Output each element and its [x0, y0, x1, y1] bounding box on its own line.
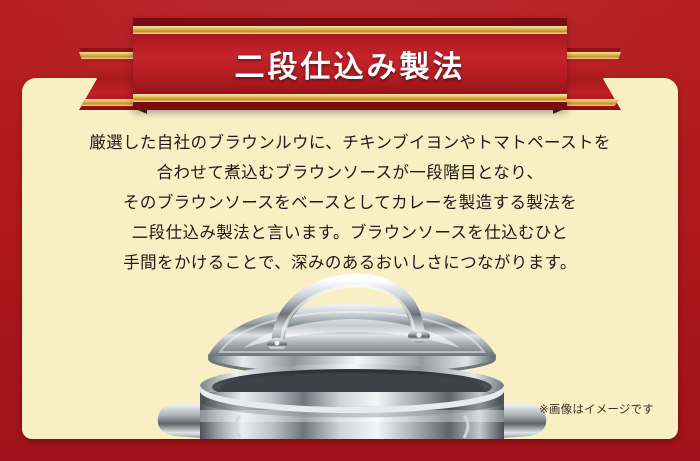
description-line-4: 二段仕込み製法と言います。ブラウンソースを仕込むひと — [22, 218, 678, 248]
description-line-2: 合わせて煮込むブラウンソースが一段階目となり、 — [22, 158, 678, 188]
description-line-3: そのブラウンソースをベースとしてカレーを製造する製法を — [22, 188, 678, 218]
image-disclaimer-caption: ※画像はイメージです — [539, 401, 654, 417]
description-block: 厳選した自社のブラウンルウに、チキンブイヨンやトマトペーストを 合わせて煮込むブ… — [22, 128, 678, 278]
description-line-1: 厳選した自社のブラウンルウに、チキンブイヨンやトマトペーストを — [22, 128, 678, 158]
ribbon-edge-dark-bottom — [133, 102, 567, 110]
pot-lid — [208, 280, 496, 376]
banner-title: 二段仕込み製法 — [133, 42, 567, 86]
pot-body — [158, 364, 546, 439]
ribbon-edge-dark-top — [133, 18, 567, 26]
ribbon-gold-stripe-bottom — [133, 94, 567, 102]
ribbon-gold-stripe-top — [133, 26, 567, 34]
ribbon-header: 二段仕込み製法 — [0, 18, 700, 110]
stainless-pot-icon — [140, 264, 560, 439]
cream-content-panel: 厳選した自社のブラウンルウに、チキンブイヨンやトマトペーストを 合わせて煮込むブ… — [22, 78, 678, 439]
ribbon-main-bar: 二段仕込み製法 — [133, 18, 567, 110]
promo-card: 厳選した自社のブラウンルウに、チキンブイヨンやトマトペーストを 合わせて煮込むブ… — [0, 0, 700, 461]
